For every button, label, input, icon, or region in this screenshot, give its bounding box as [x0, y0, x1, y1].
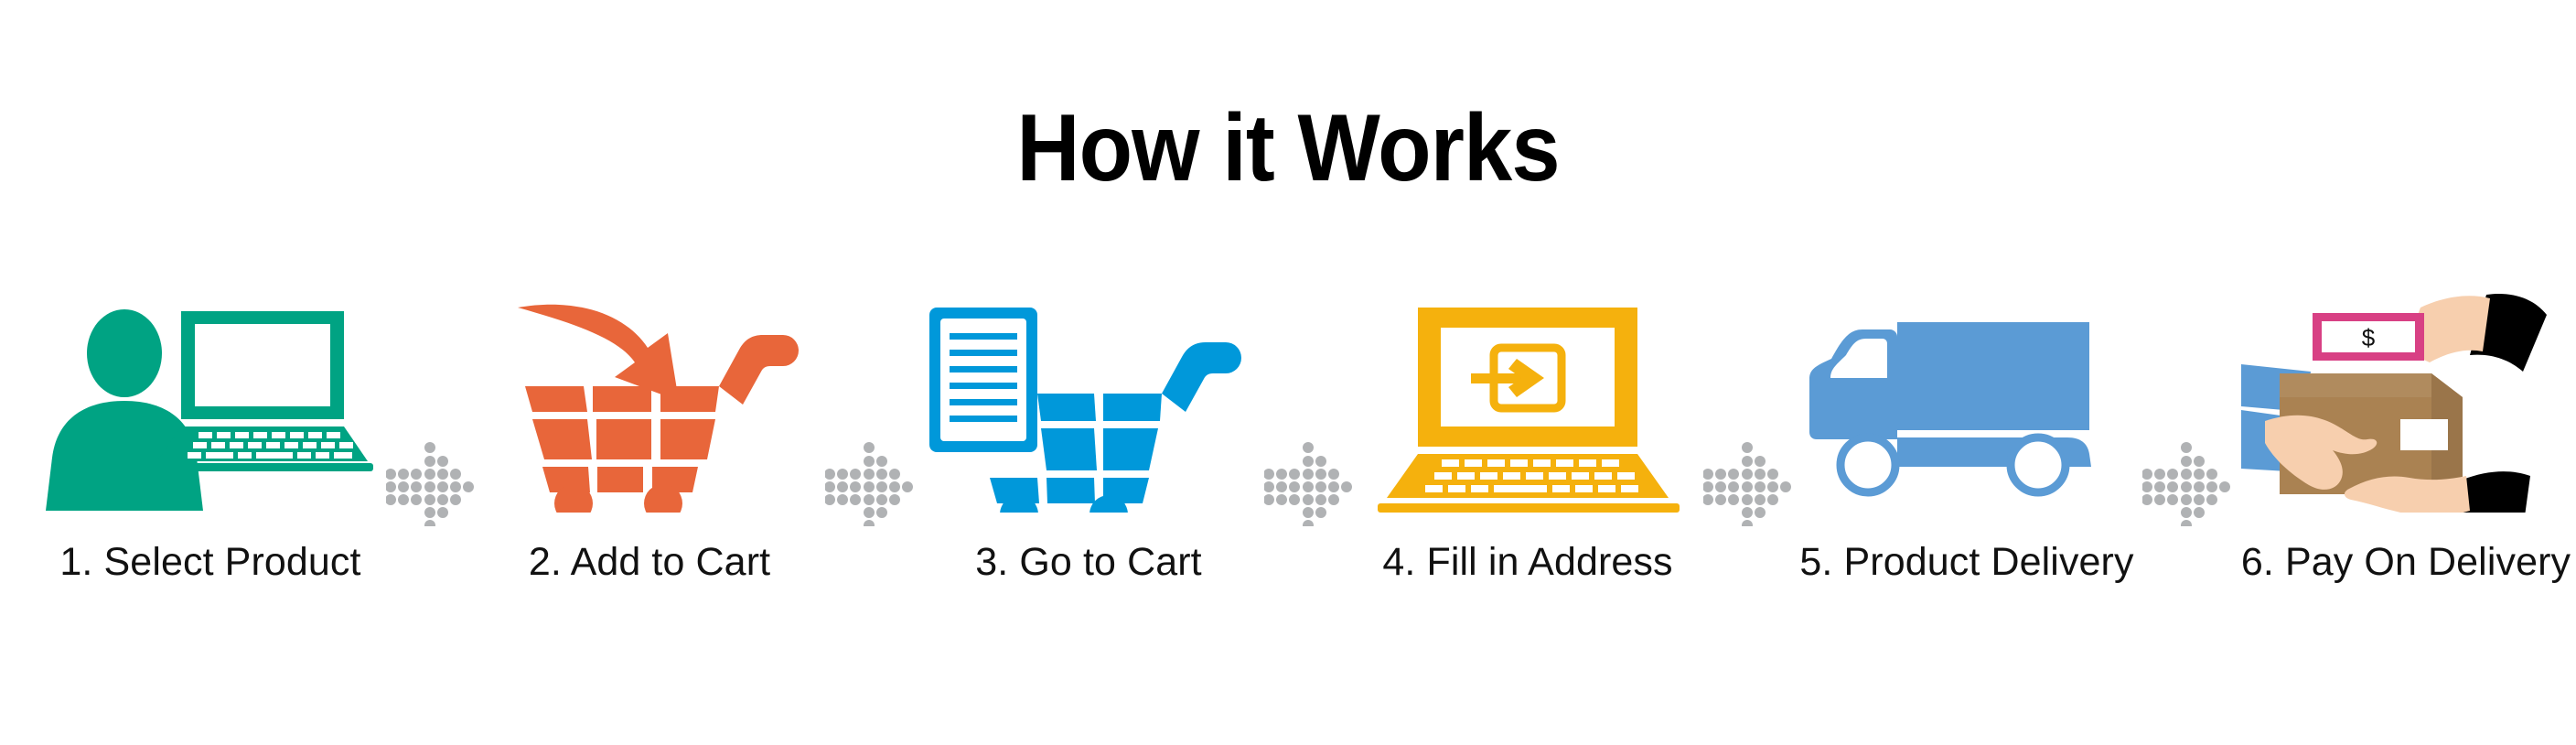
step-label: 6. Pay On Delivery	[2241, 540, 2571, 585]
steps-container: 1. Select Product	[37, 302, 2543, 632]
step-4-fill-in-address: 4. Fill in Address	[1354, 302, 1701, 585]
cash-on-delivery-hands-icon: $	[2241, 302, 2571, 513]
document-and-cart-icon	[924, 302, 1253, 513]
laptop-login-form-icon	[1363, 302, 1692, 513]
step-3-go-to-cart: 3. Go to Cart	[915, 302, 1262, 585]
dotted-arrow-right-icon	[2141, 377, 2232, 588]
black-sleeve-bottom	[2463, 471, 2530, 513]
step-6-pay-on-delivery: $	[2232, 302, 2576, 585]
cart-with-arrow-icon	[485, 302, 814, 513]
step-label: 2. Add to Cart	[529, 540, 770, 585]
step-2-add-to-cart: 2. Add to Cart	[476, 302, 823, 585]
dotted-arrow-right-icon	[1262, 377, 1354, 588]
delivery-truck-icon	[1802, 302, 2131, 513]
shipping-label	[2400, 419, 2448, 450]
dotted-arrow-right-icon	[1701, 377, 1793, 588]
infographic-page: How it Works	[0, 0, 2576, 745]
step-label: 5. Product Delivery	[1799, 540, 2133, 585]
person-at-laptop-icon	[46, 302, 375, 513]
step-label: 4. Fill in Address	[1382, 540, 1672, 585]
step-label: 3. Go to Cart	[975, 540, 1201, 585]
banknote: $	[2313, 313, 2424, 361]
page-title: How it Works	[103, 99, 2474, 199]
dotted-arrow-right-icon	[384, 377, 476, 588]
step-1-select-product: 1. Select Product	[37, 302, 384, 585]
step-label: 1. Select Product	[59, 540, 360, 585]
banknote-symbol: $	[2362, 324, 2376, 351]
step-5-product-delivery: 5. Product Delivery	[1793, 302, 2141, 585]
dotted-arrow-right-icon	[823, 377, 915, 588]
